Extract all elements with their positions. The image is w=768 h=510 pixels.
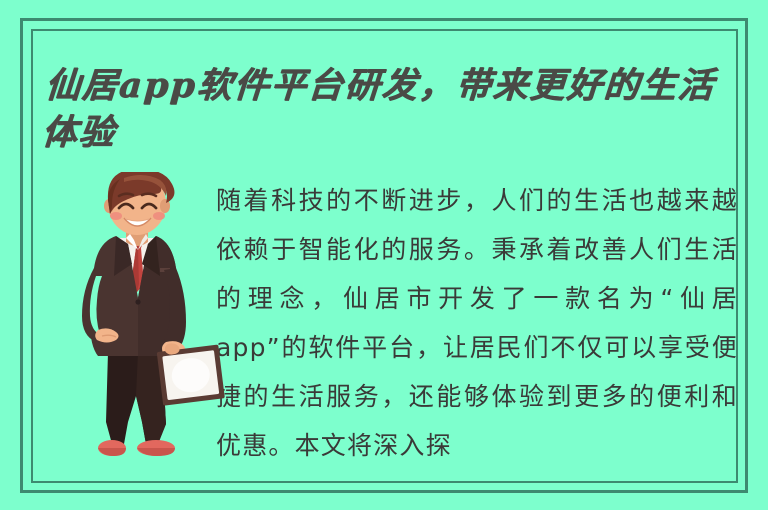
page-title: 仙居app软件平台研发，带来更好的生活体验 [40,62,747,156]
poster-canvas: 仙居app软件平台研发，带来更好的生活体验 随着科技的不断进步，人们的生活也越来… [0,0,768,510]
article-body-text: 随着科技的不断进步，人们的生活也越来越依赖于智能化的服务。秉承着改善人们生活的理… [216,176,738,470]
businessman-illustration [62,172,227,487]
